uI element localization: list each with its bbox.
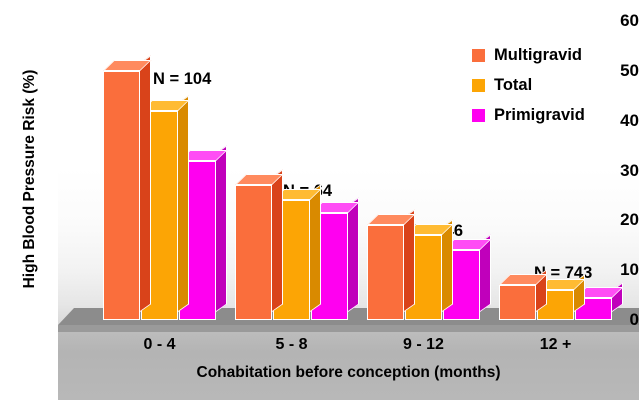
n-annotation: N = 104 — [153, 70, 211, 89]
x-tick-label: 9 - 12 — [403, 336, 444, 354]
x-tick-label: 0 - 4 — [143, 336, 175, 354]
bar-front-face — [367, 225, 404, 320]
y-tick-label: 50 — [583, 61, 639, 81]
legend-label-total: Total — [494, 76, 532, 95]
bar-chart: 0102030405060 High Blood Pressure Risk (… — [0, 0, 639, 400]
x-tick-label: 12 + — [540, 336, 572, 354]
bar-side-face — [178, 95, 189, 312]
bar-side-face — [404, 210, 415, 312]
bar[interactable] — [103, 71, 140, 320]
x-tick-label: 5 - 8 — [275, 336, 307, 354]
y-tick-label: 20 — [583, 210, 639, 230]
legend-label-primigravid: Primigravid — [494, 106, 585, 125]
bar-side-face — [348, 197, 359, 312]
bar-front-face — [235, 185, 272, 320]
y-tick-label: 40 — [583, 111, 639, 131]
y-axis-title: High Blood Pressure Risk (%) — [21, 49, 39, 309]
x-axis-title: Cohabitation before conception (months) — [58, 364, 639, 382]
bar-front-face — [103, 71, 140, 320]
bar-side-face — [272, 170, 283, 312]
bar-side-face — [310, 185, 321, 312]
bar[interactable] — [499, 285, 536, 320]
legend: Multigravid Total Primigravid — [472, 40, 585, 130]
legend-item[interactable]: Multigravid — [472, 40, 585, 70]
bar-side-face — [140, 55, 151, 312]
legend-swatch-primigravid — [472, 109, 485, 122]
bar-side-face — [216, 145, 227, 312]
bar[interactable] — [367, 225, 404, 320]
legend-item[interactable]: Primigravid — [472, 100, 585, 130]
bar[interactable] — [235, 185, 272, 320]
legend-label-multigravid: Multigravid — [494, 46, 582, 65]
legend-item[interactable]: Total — [472, 70, 585, 100]
legend-swatch-total — [472, 79, 485, 92]
bar-side-face — [442, 220, 453, 312]
y-tick-label: 30 — [583, 161, 639, 181]
bar-front-face — [499, 285, 536, 320]
y-tick-label: 60 — [583, 11, 639, 31]
legend-swatch-multigravid — [472, 49, 485, 62]
